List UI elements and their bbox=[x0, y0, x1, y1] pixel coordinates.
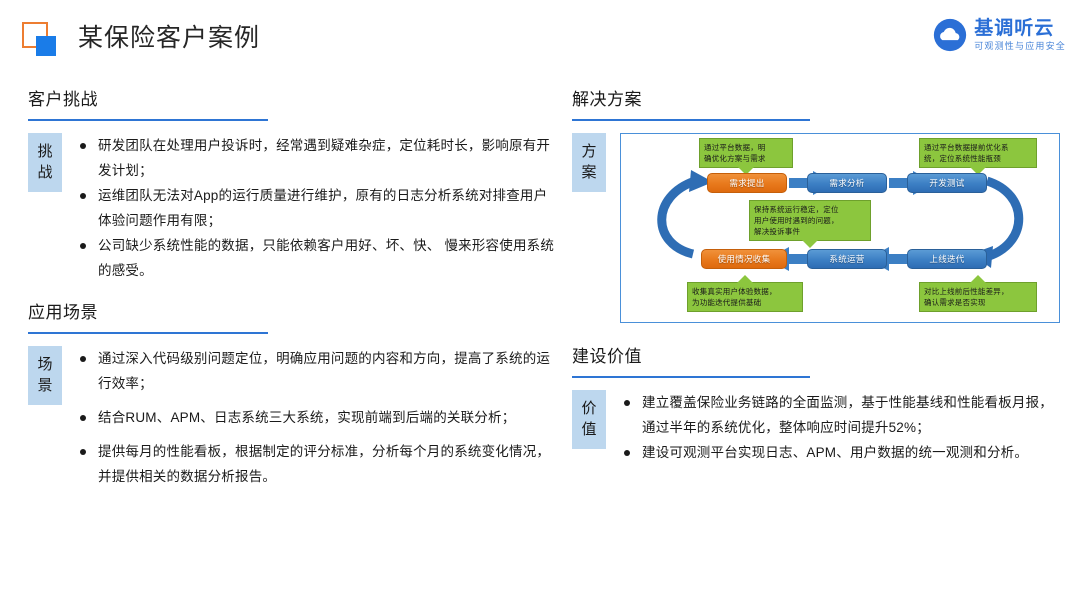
slide-header: 某保险客户案例 基调听云 可观测性与应用安全 bbox=[0, 0, 1080, 72]
side-label-scenario: 场 景 bbox=[28, 346, 62, 405]
solution-lifecycle-diagram: 通过平台数据，明 确优化方案与需求 通过平台数据提前优化系 统，定位系统性能瓶颈… bbox=[620, 133, 1060, 323]
challenge-block: 挑 战 研发团队在处理用户投诉时，经常遇到疑难杂症，定位耗时长，影响原有开发计划… bbox=[28, 133, 556, 283]
brand-text: 基调听云 可观测性与应用安全 bbox=[974, 18, 1066, 52]
callout-usage: 收集真实用户体验数据， 为功能迭代提供基础 bbox=[687, 282, 803, 312]
value-block: 价 值 建立覆盖保险业务链路的全面监测，基于性能基线和性能看板月报，通过半年的系… bbox=[572, 390, 1060, 465]
side-label-char-2: 战 bbox=[28, 162, 62, 183]
curved-arrow-left bbox=[662, 181, 695, 254]
side-label-char-1: 价 bbox=[572, 398, 606, 419]
page-title: 某保险客户案例 bbox=[78, 21, 260, 55]
square-fill-shape bbox=[36, 36, 56, 56]
brand-name: 基调听云 bbox=[974, 18, 1066, 39]
side-label-challenge: 挑 战 bbox=[28, 133, 62, 192]
list-item: 提供每月的性能看板，根据制定的评分标准，分析每个月的系统变化情况，并提供相关的数… bbox=[76, 439, 556, 489]
section-title-value: 建设价值 bbox=[572, 345, 1060, 369]
section-solution: 解决方案 方 案 bbox=[572, 88, 1060, 323]
callout-tip-icon bbox=[802, 240, 818, 248]
value-bullet-list: 建立覆盖保险业务链路的全面监测，基于性能基线和性能看板月报，通过半年的系统优化，… bbox=[620, 390, 1060, 465]
callout-line: 统，定位系统性能瓶颈 bbox=[924, 153, 1032, 164]
callout-line: 通过平台数据提前优化系 bbox=[924, 142, 1032, 153]
callout-tip-icon bbox=[737, 275, 753, 283]
section-rule-scenario bbox=[28, 332, 268, 334]
challenge-bullet-list: 研发团队在处理用户投诉时，经常遇到疑难杂症，定位耗时长，影响原有开发计划； 运维… bbox=[76, 133, 556, 283]
section-rule-solution bbox=[572, 119, 810, 121]
callout-release: 对比上线前后性能差异， 确认需求是否实现 bbox=[919, 282, 1037, 312]
callout-dev-test: 通过平台数据提前优化系 统，定位系统性能瓶颈 bbox=[919, 138, 1037, 168]
section-scenario: 应用场景 场 景 通过深入代码级别问题定位，明确应用问题的内容和方向，提高了系统… bbox=[28, 301, 556, 489]
brand-logo: 基调听云 可观测性与应用安全 bbox=[933, 14, 1066, 56]
list-item: 通过深入代码级别问题定位，明确应用问题的内容和方向，提高了系统的运行效率； bbox=[76, 346, 556, 396]
scenario-body: 通过深入代码级别问题定位，明确应用问题的内容和方向，提高了系统的运行效率； 结合… bbox=[62, 346, 556, 489]
list-item: 结合RUM、APM、日志系统三大系统，实现前端到后端的关联分析； bbox=[76, 405, 556, 430]
callout-line: 对比上线前后性能差异， bbox=[924, 286, 1032, 297]
list-item: 建设可观测平台实现日志、APM、用户数据的统一观测和分析。 bbox=[620, 440, 1060, 465]
list-item: 研发团队在处理用户投诉时，经常遇到疑难杂症，定位耗时长，影响原有开发计划； bbox=[76, 133, 556, 183]
callout-line: 确认需求是否实现 bbox=[924, 297, 1032, 308]
side-label-char-2: 值 bbox=[572, 419, 606, 440]
section-title-solution: 解决方案 bbox=[572, 88, 1060, 112]
side-label-char-2: 案 bbox=[572, 162, 606, 183]
curved-arrow-right bbox=[987, 181, 1019, 256]
section-rule-challenge bbox=[28, 119, 268, 121]
side-label-char-1: 挑 bbox=[28, 141, 62, 162]
callout-tip-icon bbox=[970, 275, 986, 283]
diagram-node-release-iterate[interactable]: 上线迭代 bbox=[907, 249, 987, 269]
side-label-solution: 方 案 bbox=[572, 133, 606, 192]
orange-blue-squares-icon bbox=[22, 22, 56, 56]
diagram-node-operations[interactable]: 系统运营 bbox=[807, 249, 887, 269]
right-column: 解决方案 方 案 bbox=[572, 88, 1060, 465]
side-label-value: 价 值 bbox=[572, 390, 606, 449]
value-body: 建立覆盖保险业务链路的全面监测，基于性能基线和性能看板月报，通过半年的系统优化，… bbox=[606, 390, 1060, 465]
list-item: 运维团队无法对App的运行质量进行维护，原有的日志分析系统对排查用户体验问题作用… bbox=[76, 183, 556, 233]
diagram-node-requirement[interactable]: 需求提出 bbox=[707, 173, 787, 193]
section-title-scenario: 应用场景 bbox=[28, 301, 556, 325]
callout-line: 通过平台数据，明 bbox=[704, 142, 788, 153]
callout-line: 保持系统运行稳定，定位 bbox=[754, 204, 866, 215]
callout-operations: 保持系统运行稳定，定位 用户使用时遇到的问题， 解决投诉事件 bbox=[749, 200, 871, 241]
section-title-challenge: 客户挑战 bbox=[28, 88, 556, 112]
diagram-node-usage-collect[interactable]: 使用情况收集 bbox=[701, 249, 787, 269]
slide-root: 某保险客户案例 基调听云 可观测性与应用安全 客户挑战 挑 战 bbox=[0, 0, 1080, 593]
list-item: 公司缺少系统性能的数据，只能依赖客户用好、坏、快、 慢来形容使用系统的感受。 bbox=[76, 233, 556, 283]
list-item: 建立覆盖保险业务链路的全面监测，基于性能基线和性能看板月报，通过半年的系统优化，… bbox=[620, 390, 1060, 440]
section-value: 建设价值 价 值 建立覆盖保险业务链路的全面监测，基于性能基线和性能看板月报，通… bbox=[572, 345, 1060, 465]
side-label-char-2: 景 bbox=[28, 375, 62, 396]
section-rule-value bbox=[572, 376, 810, 378]
solution-block: 方 案 bbox=[572, 133, 1060, 323]
callout-line: 确优化方案与需求 bbox=[704, 153, 788, 164]
scenario-block: 场 景 通过深入代码级别问题定位，明确应用问题的内容和方向，提高了系统的运行效率… bbox=[28, 346, 556, 489]
callout-line: 收集真实用户体验数据， bbox=[692, 286, 798, 297]
left-column: 客户挑战 挑 战 研发团队在处理用户投诉时，经常遇到疑难杂症，定位耗时长，影响原… bbox=[28, 88, 556, 489]
callout-requirement: 通过平台数据，明 确优化方案与需求 bbox=[699, 138, 793, 168]
callout-line: 用户使用时遇到的问题， bbox=[754, 215, 866, 226]
callout-line: 为功能迭代提供基础 bbox=[692, 297, 798, 308]
callout-line: 解决投诉事件 bbox=[754, 226, 866, 237]
cloud-circle-icon bbox=[933, 18, 967, 52]
challenge-body: 研发团队在处理用户投诉时，经常遇到疑难杂症，定位耗时长，影响原有开发计划； 运维… bbox=[62, 133, 556, 283]
brand-tagline: 可观测性与应用安全 bbox=[974, 40, 1066, 52]
diagram-node-dev-test[interactable]: 开发测试 bbox=[907, 173, 987, 193]
scenario-bullet-list: 通过深入代码级别问题定位，明确应用问题的内容和方向，提高了系统的运行效率； 结合… bbox=[76, 346, 556, 489]
side-label-char-1: 方 bbox=[572, 141, 606, 162]
diagram-node-analysis[interactable]: 需求分析 bbox=[807, 173, 887, 193]
side-label-char-1: 场 bbox=[28, 354, 62, 375]
section-challenge: 客户挑战 挑 战 研发团队在处理用户投诉时，经常遇到疑难杂症，定位耗时长，影响原… bbox=[28, 88, 556, 283]
